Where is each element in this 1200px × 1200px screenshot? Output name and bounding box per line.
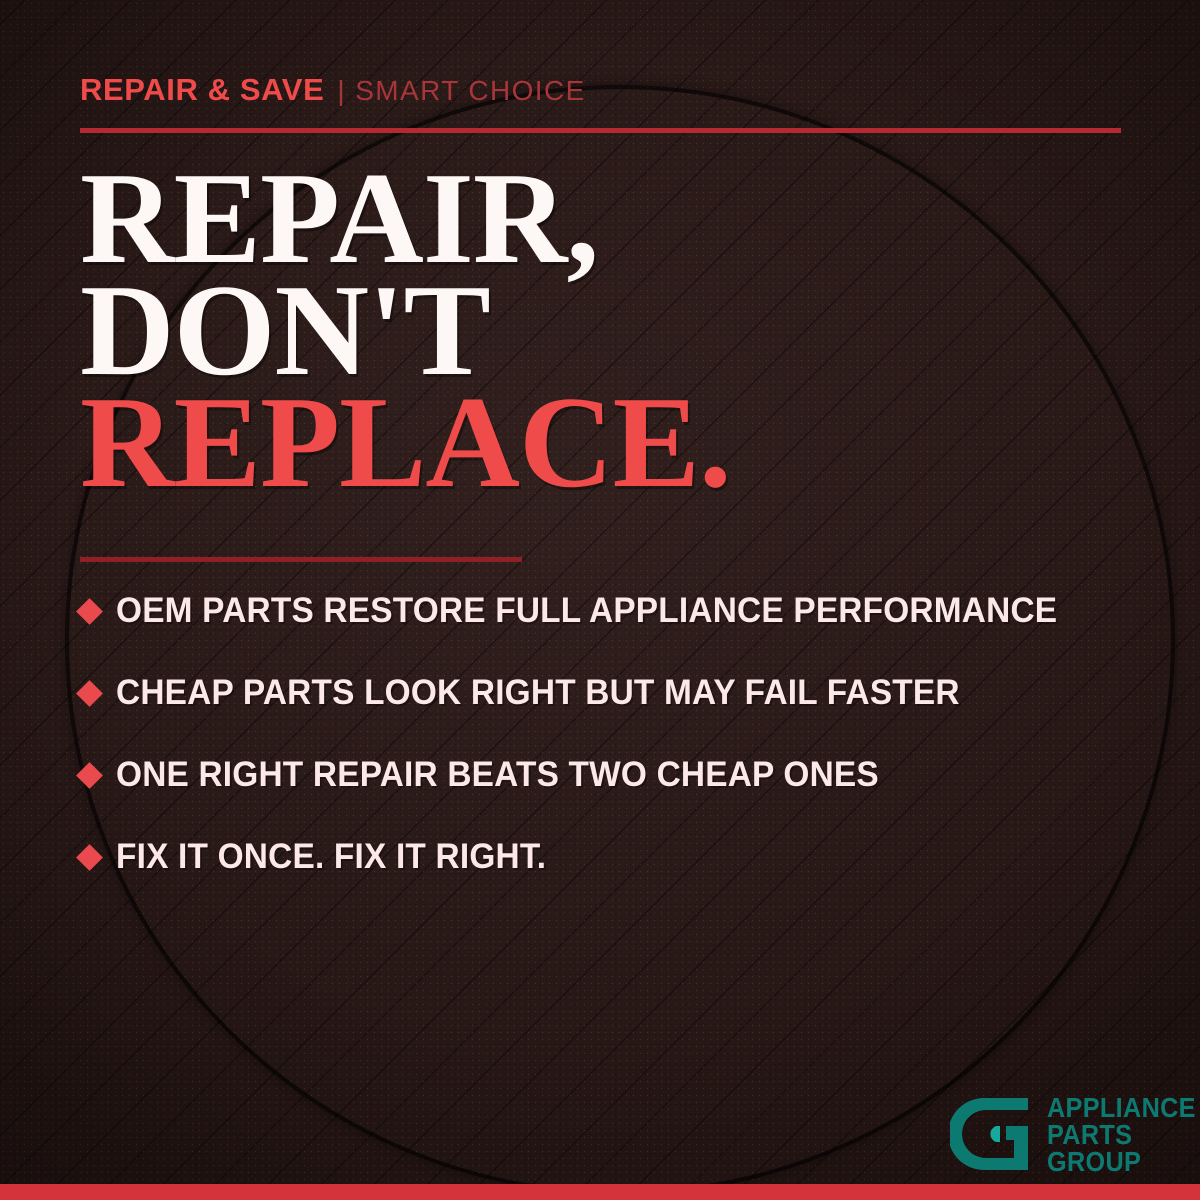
list-item-label: OEM PARTS RESTORE FULL APPLIANCE PERFORM…	[116, 591, 1057, 631]
g-monogram-icon	[950, 1092, 1034, 1176]
promo-poster: REPAIR & SAVE | SMART CHOICE REPAIR, DON…	[0, 0, 1200, 1200]
diamond-icon	[76, 680, 103, 707]
diamond-icon	[76, 844, 103, 871]
brand-line-1: APPLIANCE	[1047, 1095, 1196, 1122]
diamond-icon	[76, 598, 103, 625]
list-item-label: ONE RIGHT REPAIR BEATS TWO CHEAP ONES	[116, 755, 879, 795]
brand-logo: APPLIANCE PARTS GROUP	[950, 1092, 1200, 1176]
benefit-list: OEM PARTS RESTORE FULL APPLIANCE PERFORM…	[80, 588, 1150, 880]
eyebrow-main-label: REPAIR & SAVE	[80, 72, 324, 108]
diamond-icon	[76, 762, 103, 789]
list-item: ONE RIGHT REPAIR BEATS TWO CHEAP ONES	[80, 752, 1150, 798]
brand-line-2: PARTS	[1047, 1122, 1196, 1149]
list-item-label: FIX IT ONCE. FIX IT RIGHT.	[116, 837, 546, 877]
list-item: FIX IT ONCE. FIX IT RIGHT.	[80, 834, 1150, 880]
brand-line-3: GROUP	[1047, 1149, 1196, 1176]
brand-wordmark: APPLIANCE PARTS GROUP	[1047, 1092, 1200, 1176]
list-item-label: CHEAP PARTS LOOK RIGHT BUT MAY FAIL FAST…	[116, 673, 960, 713]
header-rule	[80, 128, 1121, 133]
bottom-accent-bar	[0, 1184, 1200, 1200]
list-item: OEM PARTS RESTORE FULL APPLIANCE PERFORM…	[80, 588, 1150, 634]
eyebrow-sub-label: | SMART CHOICE	[337, 75, 585, 107]
poster-content: REPAIR & SAVE | SMART CHOICE REPAIR, DON…	[0, 0, 1200, 1200]
page-title: REPAIR, DON'T REPLACE.	[80, 163, 731, 499]
headline-line-3: REPLACE.	[80, 387, 731, 499]
eyebrow: REPAIR & SAVE | SMART CHOICE	[80, 72, 586, 108]
headline-divider	[80, 557, 522, 562]
list-item: CHEAP PARTS LOOK RIGHT BUT MAY FAIL FAST…	[80, 670, 1150, 716]
